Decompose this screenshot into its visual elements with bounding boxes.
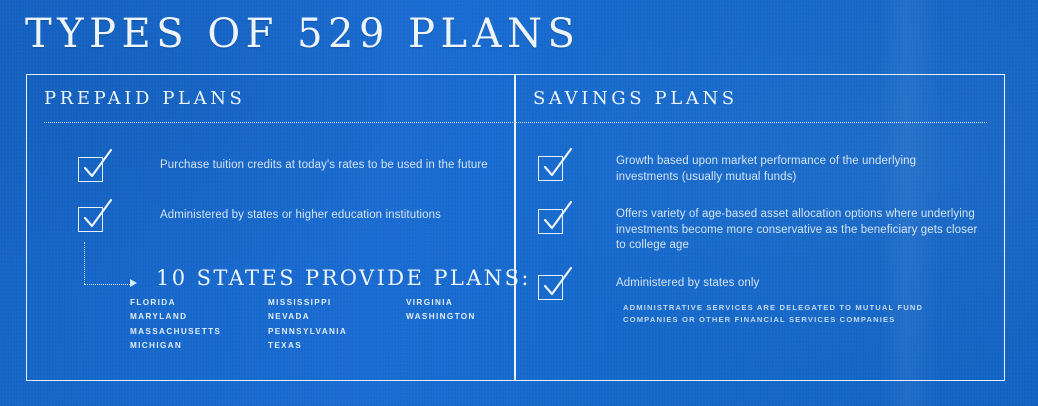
prepaid-plans-column: PREPAID PLANS Purchase tuition credits a…	[26, 74, 515, 381]
list-item: Growth based upon market performance of …	[538, 152, 978, 185]
dotted-connector-arrow-icon	[84, 242, 154, 294]
states-column-1: FLORIDA MARYLAND MASSACHUSETTS MICHIGAN	[130, 296, 230, 354]
page-title: TYPES OF 529 PLANS	[25, 12, 580, 56]
checkbox-checked-icon	[538, 153, 566, 181]
states-column-3: VIRGINIA WASHINGTON	[406, 296, 516, 354]
state-item: PENNSYLVANIA	[268, 325, 368, 339]
state-item: MARYLAND	[130, 310, 230, 324]
savings-plans-column: SAVINGS PLANS Growth based upon market p…	[515, 74, 1005, 381]
list-item-label: Purchase tuition credits at today's rate…	[106, 153, 488, 174]
prepaid-plans-header: PREPAID PLANS	[26, 74, 515, 110]
state-item: MASSACHUSETTS	[130, 325, 230, 339]
list-item-label: Growth based upon market performance of …	[566, 152, 978, 185]
footnote: ADMINISTRATIVE SERVICES ARE DELEGATED TO…	[623, 302, 953, 326]
list-item-label: Offers variety of age-based asset alloca…	[566, 205, 978, 254]
list-item-label: Administered by states only	[566, 271, 759, 292]
infographic-poster: TYPES OF 529 PLANS PREPAID PLANS Purchas…	[0, 0, 1038, 406]
list-item: Administered by states only	[538, 271, 978, 300]
savings-plans-header: SAVINGS PLANS	[515, 74, 1005, 110]
savings-header-rule	[515, 122, 987, 123]
state-item: WASHINGTON	[406, 310, 516, 324]
list-item: Offers variety of age-based asset alloca…	[538, 205, 978, 254]
states-column-2: MISSISSIPPI NEVADA PENNSYLVANIA TEXAS	[268, 296, 368, 354]
state-item: VIRGINIA	[406, 296, 516, 310]
state-item: TEXAS	[268, 339, 368, 353]
states-heading: 10 STATES PROVIDE PLANS:	[156, 266, 531, 290]
prepaid-header-rule	[44, 122, 515, 123]
checkbox-checked-icon	[538, 206, 566, 234]
savings-plans-title: SAVINGS PLANS	[533, 88, 1005, 110]
state-item: MISSISSIPPI	[268, 296, 368, 310]
state-item: NEVADA	[268, 310, 368, 324]
states-list: FLORIDA MARYLAND MASSACHUSETTS MICHIGAN …	[130, 296, 516, 354]
checkbox-checked-icon	[78, 154, 106, 182]
list-item-label: Administered by states or higher educati…	[106, 203, 441, 224]
prepaid-plans-title: PREPAID PLANS	[44, 88, 515, 110]
list-item: Purchase tuition credits at today's rate…	[78, 153, 498, 182]
checkbox-checked-icon	[78, 204, 106, 232]
list-item: Administered by states or higher educati…	[78, 203, 498, 232]
checkbox-checked-icon	[538, 272, 566, 300]
state-item: FLORIDA	[130, 296, 230, 310]
state-item: MICHIGAN	[130, 339, 230, 353]
